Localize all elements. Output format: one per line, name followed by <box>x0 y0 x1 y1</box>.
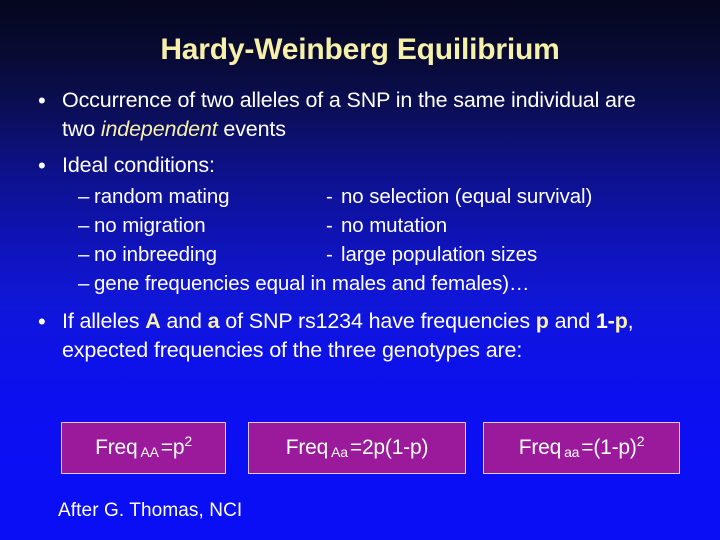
formula-equals: = <box>350 436 362 460</box>
bullet-marker: • <box>38 307 62 337</box>
formula-name: Freq <box>519 436 561 460</box>
formula-box-AA: FreqAA = p2 <box>61 422 226 474</box>
text-of-snp: of SNP rs1234 have frequencies <box>219 309 535 333</box>
condition-left: random mating <box>94 182 326 211</box>
formula-box-aa: Freqaa = (1-p)2 <box>483 422 680 474</box>
bullet-text-part2: events <box>218 117 286 141</box>
formula-box-Aa: FreqAa = 2p(1-p) <box>248 422 466 474</box>
list-item: – random mating - no selection (equal su… <box>78 182 720 211</box>
page-title: Hardy-Weinberg Equilibrium <box>0 33 720 67</box>
condition-hyphen: - <box>326 182 341 211</box>
bullet-text-ideal-conditions: Ideal conditions: <box>62 151 706 180</box>
condition-left: no inbreeding <box>94 240 326 269</box>
bullet-marker: • <box>38 151 62 181</box>
formula-boxes: FreqAA = p2 FreqAa = 2p(1-p) Freqaa = (1… <box>0 422 720 476</box>
text-and: and <box>161 309 208 333</box>
conditions-list: – random mating - no selection (equal su… <box>0 182 720 298</box>
frequency-symbol-p-2: p <box>615 309 628 333</box>
sub-bullet-dash: – <box>78 211 94 240</box>
allele-symbol-a: a <box>208 309 220 333</box>
formula-subscript: aa <box>561 444 581 460</box>
formula-name: Freq <box>286 436 328 460</box>
formula-subscript: Aa <box>328 444 350 460</box>
formula-equals: = <box>581 436 593 460</box>
sub-bullet-dash: – <box>78 182 94 211</box>
bullet-item-occurrence: • Occurrence of two alleles of a SNP in … <box>0 86 720 144</box>
sub-bullet-dash: – <box>78 240 94 269</box>
text-if-alleles: If alleles <box>62 309 145 333</box>
condition-hyphen: - <box>326 211 341 240</box>
formula-expression: p <box>173 436 184 460</box>
condition-right: large population sizes <box>341 240 537 269</box>
list-item: – no inbreeding - large population sizes <box>78 240 720 269</box>
formula-expression: 2p(1-p) <box>362 436 428 460</box>
bullet-marker: • <box>38 86 62 116</box>
allele-symbol-A: A <box>145 309 160 333</box>
condition-left: no migration <box>94 211 326 240</box>
text-one-minus: 1- <box>596 309 615 333</box>
bullet-item-allele-frequencies: • If alleles A and a of SNP rs1234 have … <box>0 307 720 365</box>
bullet-text-allele-frequencies: If alleles A and a of SNP rs1234 have fr… <box>62 307 674 365</box>
formula-superscript: 2 <box>637 433 645 449</box>
slide-body: • Occurrence of two alleles of a SNP in … <box>0 86 720 365</box>
formula-expression: (1-p) <box>593 436 636 460</box>
frequency-symbol-p: p <box>536 309 549 333</box>
footer-credit: After G. Thomas, NCI <box>58 500 242 522</box>
formula-equals: = <box>161 436 173 460</box>
condition-hyphen: - <box>326 240 341 269</box>
emphasis-independent: independent <box>101 117 218 141</box>
formula-name: Freq <box>95 436 137 460</box>
sub-bullet-dash: – <box>78 269 94 298</box>
presentation-slide: Hardy-Weinberg Equilibrium • Occurrence … <box>0 0 720 540</box>
condition-right: no selection (equal survival) <box>341 182 592 211</box>
condition-right: no mutation <box>341 211 447 240</box>
condition-left: gene frequencies equal in males and fema… <box>94 269 720 298</box>
formula-subscript: AA <box>137 444 160 460</box>
list-item: – no migration - no mutation <box>78 211 720 240</box>
text-and-2: and <box>549 309 596 333</box>
bullet-text-occurrence: Occurrence of two alleles of a SNP in th… <box>62 86 674 144</box>
bullet-item-ideal-conditions: • Ideal conditions: <box>0 151 720 181</box>
formula-superscript: 2 <box>184 433 192 449</box>
list-item: – gene frequencies equal in males and fe… <box>78 269 720 298</box>
